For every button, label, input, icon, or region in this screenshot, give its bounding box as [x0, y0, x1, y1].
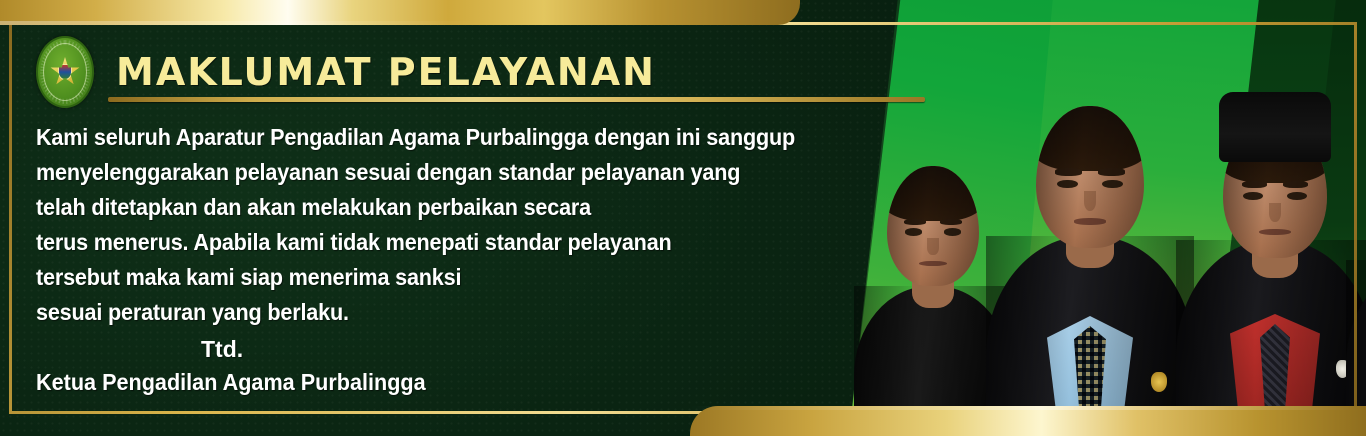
face-shading	[887, 166, 979, 286]
gold-ribbon-top	[0, 0, 800, 25]
officer-photo-2	[985, 106, 1195, 436]
face-shading	[1036, 106, 1144, 248]
maklumat-pelayanan-banner: MAKLUMAT PELAYANAN Kami seluruh Aparatur…	[0, 0, 1366, 436]
signature-block: Ttd. Ketua Pengadilan Agama Purbalingga	[36, 336, 451, 396]
body-line: tersebut maka kami siap menerima sanksi	[36, 262, 816, 293]
head	[887, 166, 979, 286]
pengadilan-agama-logo-icon	[36, 36, 94, 108]
signature-ttd-label: Ttd.	[36, 336, 451, 362]
signature-role-label: Ketua Pengadilan Agama Purbalingga	[36, 368, 426, 396]
body-line: telah ditetapkan dan akan melakukan perb…	[36, 192, 816, 223]
lapel-pin-icon	[1151, 372, 1167, 392]
maklumat-body-text: Kami seluruh Aparatur Pengadilan Agama P…	[36, 122, 866, 332]
gold-ribbon-bottom	[690, 406, 1366, 436]
title-underline-rule	[108, 97, 925, 102]
officer-photo-group	[845, 0, 1366, 436]
songkok-cap	[1219, 92, 1331, 162]
officer-photo-3	[1175, 106, 1366, 436]
head	[1036, 106, 1144, 248]
officer-photo-4	[1345, 136, 1366, 436]
body-line: sesuai peraturan yang berlaku.	[36, 297, 816, 328]
page-title: MAKLUMAT PELAYANAN	[116, 50, 656, 94]
body-line: terus menerus. Apabila kami tidak menepa…	[36, 227, 816, 258]
body-line: menyelenggarakan pelayanan sesuai dengan…	[36, 157, 816, 188]
body-line: Kami seluruh Aparatur Pengadilan Agama P…	[36, 122, 816, 153]
